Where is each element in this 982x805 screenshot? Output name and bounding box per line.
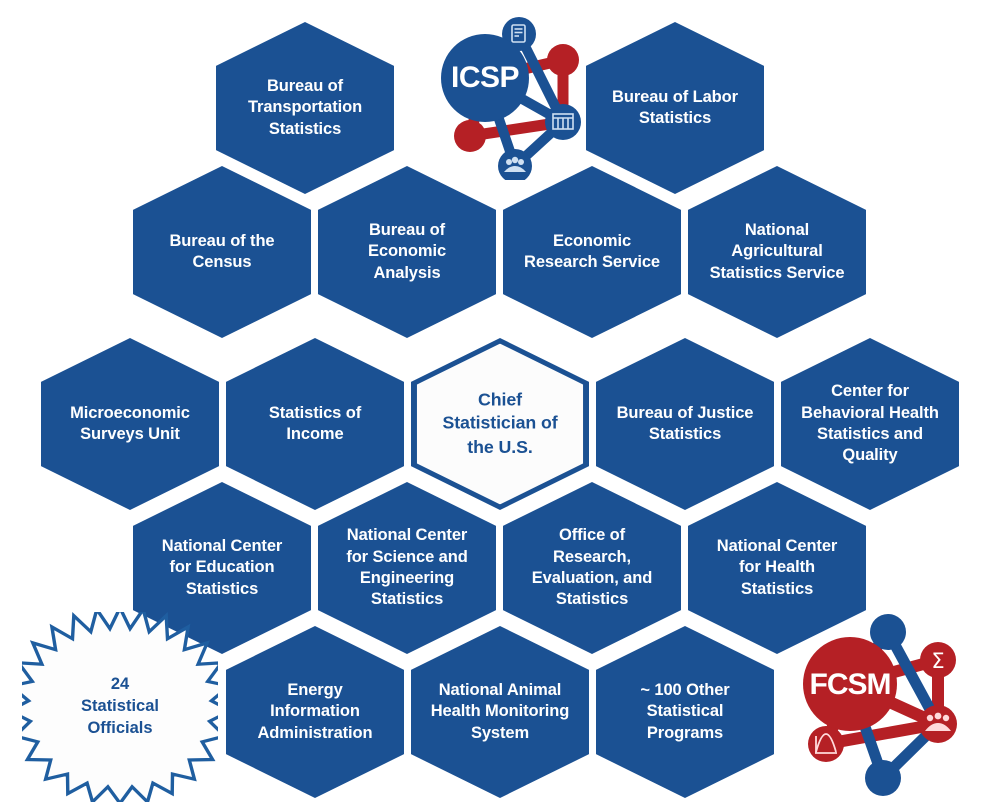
hex-bureau-of-justice-statistics[interactable]: Bureau of Justice Statistics [596,338,774,510]
starburst-icon [22,612,218,802]
hex-label: Center for Behavioral Health Statistics … [797,381,943,467]
hex-statistics-of-income[interactable]: Statistics of Income [226,338,404,510]
hex-label: National Animal Health Monitoring System [427,680,573,744]
hex-label: Statistics of Income [242,403,388,446]
hex-label: Microeconomic Surveys Unit [57,403,203,446]
hex-label: Bureau of Labor Statistics [602,87,748,130]
fcsm-logo: Σ FCSM [782,612,978,802]
icsp-logo: ICSP [423,8,601,180]
hex-label: National Center for Science and Engineer… [334,525,480,611]
diagram-canvas: Bureau of Transportation Statistics [0,0,982,805]
hex-bureau-of-economic-analysis[interactable]: Bureau of Economic Analysis [318,166,496,338]
hex-label: Office of Research, Evaluation, and Stat… [519,525,665,611]
hex-energy-information-administration[interactable]: Energy Information Administration [226,626,404,798]
hex-bureau-of-the-census[interactable]: Bureau of the Census [133,166,311,338]
hex-100-other-statistical-programs[interactable]: ~ 100 Other Statistical Programs [596,626,774,798]
fcsm-hub-label: FCSM [810,668,891,701]
hex-label: National Center for Education Statistics [149,536,295,600]
hex-label: Bureau of Economic Analysis [334,220,480,284]
hex-label: Bureau of the Census [149,231,295,274]
hex-national-agricultural-statistics-service[interactable]: National Agricultural Statistics Service [688,166,866,338]
network-node-icon [865,760,901,796]
hex-center-for-behavioral-health-statistics-and-quality[interactable]: Center for Behavioral Health Statistics … [781,338,959,510]
hex-label: Economic Research Service [519,231,665,274]
hex-chief-statistician-of-the-us[interactable]: Chief Statistician of the U.S. [411,338,589,510]
statistical-officials-badge: 24 Statistical Officials [22,612,218,802]
hex-bureau-of-labor-statistics[interactable]: Bureau of Labor Statistics [586,22,764,194]
hex-economic-research-service[interactable]: Economic Research Service [503,166,681,338]
hex-national-center-for-science-and-engineering-statistics[interactable]: National Center for Science and Engineer… [318,482,496,654]
hex-label: Energy Information Administration [242,680,388,744]
hex-label: National Agricultural Statistics Service [704,220,850,284]
hex-label: Bureau of Transportation Statistics [232,76,378,140]
hex-label: ~ 100 Other Statistical Programs [612,680,758,744]
hex-microeconomic-surveys-unit[interactable]: Microeconomic Surveys Unit [41,338,219,510]
icsp-hub-label: ICSP [451,61,519,94]
hex-label: Bureau of Justice Statistics [612,403,758,446]
building-icon [553,114,573,129]
document-icon [512,25,525,42]
hex-office-of-research-evaluation-and-statistics[interactable]: Office of Research, Evaluation, and Stat… [503,482,681,654]
sigma-icon: Σ [931,649,944,673]
hex-bureau-of-transportation-statistics[interactable]: Bureau of Transportation Statistics [216,22,394,194]
hex-label: Chief Statistician of the U.S. [430,388,570,459]
center-hex-inner: Chief Statistician of the U.S. [417,344,583,505]
hex-national-animal-health-monitoring-system[interactable]: National Animal Health Monitoring System [411,626,589,798]
hex-label: National Center for Health Statistics [704,536,850,600]
